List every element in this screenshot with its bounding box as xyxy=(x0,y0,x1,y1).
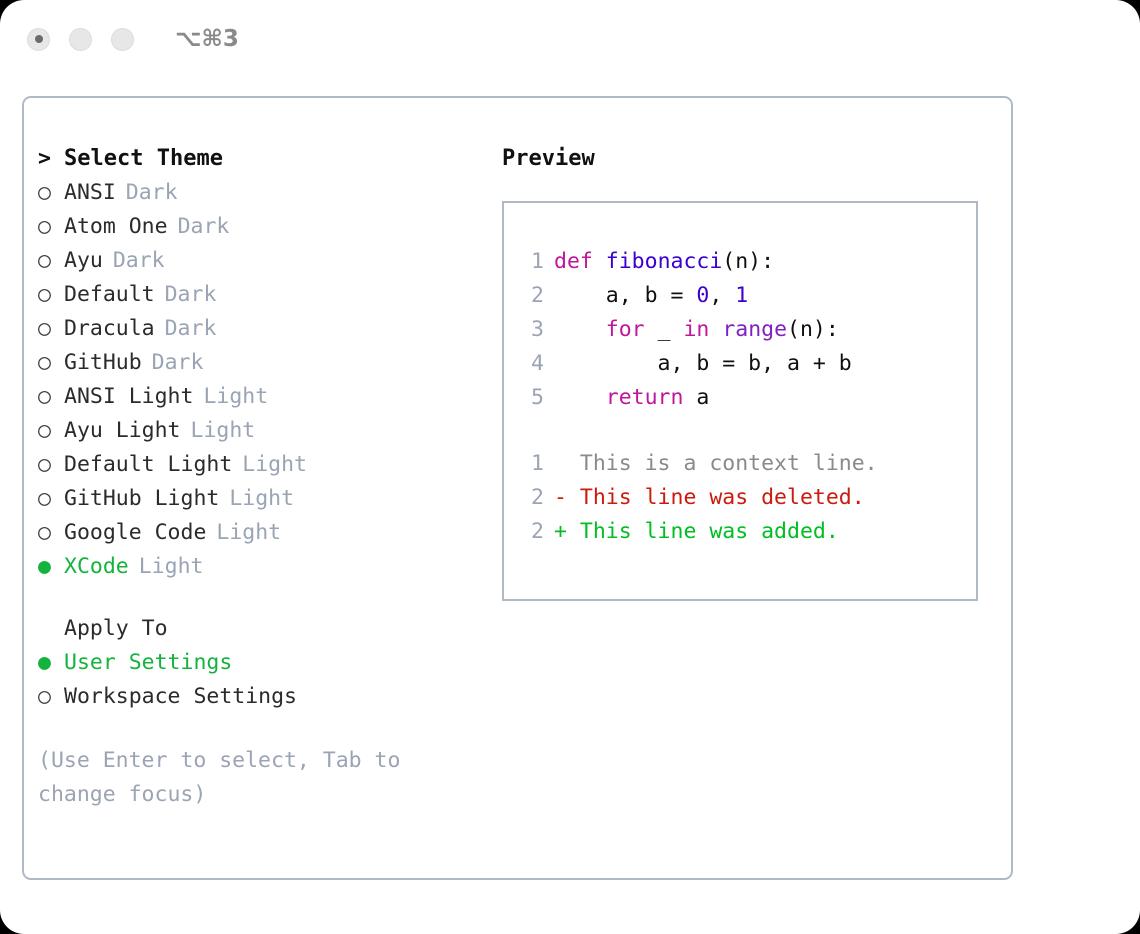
apply-to-option-user-settings[interactable]: ●User Settings xyxy=(38,646,478,680)
theme-name: Default Light xyxy=(64,448,232,482)
window-titlebar: ⌥⌘3 xyxy=(0,0,1140,78)
main-panel: >Select Theme ○ANSIDark ○Atom OneDark ○A… xyxy=(22,96,1013,880)
theme-name: GitHub xyxy=(64,346,142,380)
theme-name: Atom One xyxy=(64,210,168,244)
theme-kind: Light xyxy=(242,448,307,482)
app-window: ⌥⌘3 >Select Theme ○ANSIDark ○Atom OneDar… xyxy=(0,0,1140,934)
diff-line-added: 2+ This line was added. xyxy=(514,515,976,549)
apply-to-option-label: Workspace Settings xyxy=(64,680,297,714)
theme-kind: Dark xyxy=(165,278,217,312)
theme-name: ANSI xyxy=(64,176,116,210)
code-token xyxy=(593,249,606,274)
theme-item-google-code[interactable]: ○Google CodeLight xyxy=(38,516,478,550)
code-token: 1 xyxy=(735,283,748,308)
window-dot-1[interactable] xyxy=(27,28,50,51)
theme-name: Ayu xyxy=(64,244,103,278)
code-token: def xyxy=(554,249,593,274)
code-token: in xyxy=(683,317,709,342)
code-token: 0 xyxy=(696,283,709,308)
code-token xyxy=(554,317,606,342)
line-number: 4 xyxy=(514,347,544,381)
theme-item-ayu-light[interactable]: ○Ayu LightLight xyxy=(38,414,478,448)
theme-kind: Light xyxy=(203,380,268,414)
radio-unselected-icon: ○ xyxy=(38,346,64,380)
theme-kind: Light xyxy=(229,482,294,516)
code-line: 5 return a xyxy=(514,381,976,415)
diff-sign: + xyxy=(554,519,567,544)
theme-name: XCode xyxy=(64,550,129,584)
theme-item-atom-one[interactable]: ○Atom OneDark xyxy=(38,210,478,244)
keyboard-hint-text: (Use Enter to select, Tab to change focu… xyxy=(38,744,438,812)
window-dot-3[interactable] xyxy=(111,28,134,51)
line-number: 2 xyxy=(514,481,544,515)
theme-kind: Dark xyxy=(126,176,178,210)
caret-icon: > xyxy=(38,142,64,176)
preview-separator xyxy=(514,415,976,447)
preview-box: 1def fibonacci(n): 2 a, b = 0, 1 3 for _… xyxy=(502,201,978,601)
preview-title: Preview xyxy=(502,142,994,176)
theme-kind: Light xyxy=(216,516,281,550)
theme-kind: Dark xyxy=(178,210,230,244)
code-token: (n): xyxy=(722,249,774,274)
line-number: 3 xyxy=(514,313,544,347)
theme-item-default[interactable]: ○DefaultDark xyxy=(38,278,478,312)
radio-unselected-icon: ○ xyxy=(38,210,64,244)
code-token: range xyxy=(722,317,787,342)
diff-text: This is a context line. xyxy=(567,451,878,476)
theme-kind: Light xyxy=(139,550,204,584)
code-token xyxy=(709,317,722,342)
radio-unselected-icon: ○ xyxy=(38,278,64,312)
apply-to-option-workspace-settings[interactable]: ○Workspace Settings xyxy=(38,680,478,714)
apply-to-title: Apply To xyxy=(64,612,168,646)
radio-unselected-icon: ○ xyxy=(38,414,64,448)
line-number: 2 xyxy=(514,515,544,549)
code-token xyxy=(554,385,606,410)
theme-selector-column: >Select Theme ○ANSIDark ○Atom OneDark ○A… xyxy=(38,142,478,812)
line-number: 1 xyxy=(514,245,544,279)
theme-name: Default xyxy=(64,278,155,312)
theme-name: Google Code xyxy=(64,516,206,550)
theme-name: ANSI Light xyxy=(64,380,193,414)
window-dot-2[interactable] xyxy=(69,28,92,51)
radio-unselected-icon: ○ xyxy=(38,312,64,346)
apply-to-header: Apply To xyxy=(38,612,478,646)
theme-item-ansi-light[interactable]: ○ANSI LightLight xyxy=(38,380,478,414)
code-line: 3 for _ in range(n): xyxy=(514,313,976,347)
window-dot-1-indicator xyxy=(35,35,43,43)
radio-unselected-icon: ○ xyxy=(38,244,64,278)
code-token: for xyxy=(606,317,645,342)
diff-text: This line was added. xyxy=(567,519,839,544)
theme-item-default-light[interactable]: ○Default LightLight xyxy=(38,448,478,482)
line-number: 5 xyxy=(514,381,544,415)
code-token: a xyxy=(683,385,709,410)
theme-kind: Light xyxy=(191,414,256,448)
theme-kind: Dark xyxy=(165,312,217,346)
theme-item-ayu[interactable]: ○AyuDark xyxy=(38,244,478,278)
preview-column: Preview 1def fibonacci(n): 2 a, b = 0, 1… xyxy=(502,142,994,601)
keyboard-shortcut-label: ⌥⌘3 xyxy=(175,26,239,52)
apply-to-option-label: User Settings xyxy=(64,646,232,680)
radio-unselected-icon: ○ xyxy=(38,516,64,550)
apply-to-group: Apply To ●User Settings ○Workspace Setti… xyxy=(38,612,478,714)
theme-item-dracula[interactable]: ○DraculaDark xyxy=(38,312,478,346)
theme-name: Ayu Light xyxy=(64,414,181,448)
line-number: 2 xyxy=(514,279,544,313)
diff-sign xyxy=(554,451,567,476)
code-token: return xyxy=(606,385,684,410)
code-line: 4 a, b = b, a + b xyxy=(514,347,976,381)
theme-item-ansi[interactable]: ○ANSIDark xyxy=(38,176,478,210)
theme-item-github[interactable]: ○GitHubDark xyxy=(38,346,478,380)
theme-item-github-light[interactable]: ○GitHub LightLight xyxy=(38,482,478,516)
radio-selected-icon: ● xyxy=(38,646,64,680)
diff-line-context: 1 This is a context line. xyxy=(514,447,976,481)
diff-line-deleted: 2- This line was deleted. xyxy=(514,481,976,515)
line-number: 1 xyxy=(514,447,544,481)
theme-item-xcode[interactable]: ●XCodeLight xyxy=(38,550,478,584)
code-token: _ xyxy=(645,317,684,342)
theme-name: GitHub Light xyxy=(64,482,219,516)
diff-sign: - xyxy=(554,485,567,510)
theme-kind: Dark xyxy=(152,346,204,380)
radio-unselected-icon: ○ xyxy=(38,448,64,482)
window-controls xyxy=(27,28,134,51)
select-theme-header: >Select Theme xyxy=(38,142,478,176)
radio-unselected-icon: ○ xyxy=(38,176,64,210)
code-line: 2 a, b = 0, 1 xyxy=(514,279,976,313)
code-token: , xyxy=(709,283,735,308)
code-token: (n): xyxy=(787,317,839,342)
radio-unselected-icon: ○ xyxy=(38,380,64,414)
radio-unselected-icon: ○ xyxy=(38,680,64,714)
theme-kind: Dark xyxy=(113,244,165,278)
code-token: fibonacci xyxy=(606,249,723,274)
radio-unselected-icon: ○ xyxy=(38,482,64,516)
code-token: a, b = b, a + b xyxy=(554,351,852,376)
radio-selected-icon: ● xyxy=(38,550,64,584)
theme-name: Dracula xyxy=(64,312,155,346)
code-token: a, b = xyxy=(554,283,696,308)
diff-text: This line was deleted. xyxy=(567,485,865,510)
select-theme-title: Select Theme xyxy=(64,142,223,176)
code-line: 1def fibonacci(n): xyxy=(514,245,976,279)
